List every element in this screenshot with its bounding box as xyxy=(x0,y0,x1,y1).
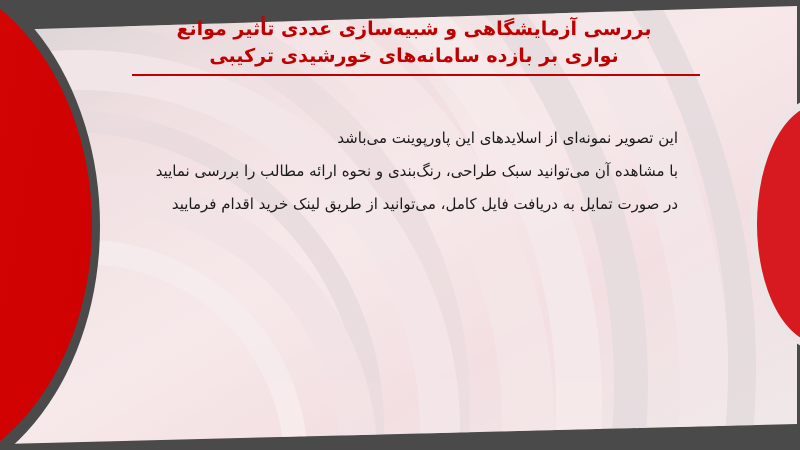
slide-title-line-2: نواری بر بازده سامانه‌های خورشیدی ترکیبی xyxy=(120,43,708,70)
body-line-2: با مشاهده آن می‌توانید سبک طراحی، رنگ‌بن… xyxy=(110,155,678,188)
body-line-1: این تصویر نمونه‌ای از اسلایدهای این پاور… xyxy=(110,122,678,155)
slide-title: بررسی آزمایشگاهی و شبیه‌سازی عددی تأثیر … xyxy=(120,16,708,70)
slide-body-text: این تصویر نمونه‌ای از اسلایدهای این پاور… xyxy=(110,122,678,221)
presentation-slide: بررسی آزمایشگاهی و شبیه‌سازی عددی تأثیر … xyxy=(0,0,800,450)
body-line-3: در صورت تمایل به دریافت فایل کامل، می‌تو… xyxy=(110,188,678,221)
title-underline-rule xyxy=(132,74,700,76)
slide-title-line-1: بررسی آزمایشگاهی و شبیه‌سازی عددی تأثیر … xyxy=(120,16,708,43)
